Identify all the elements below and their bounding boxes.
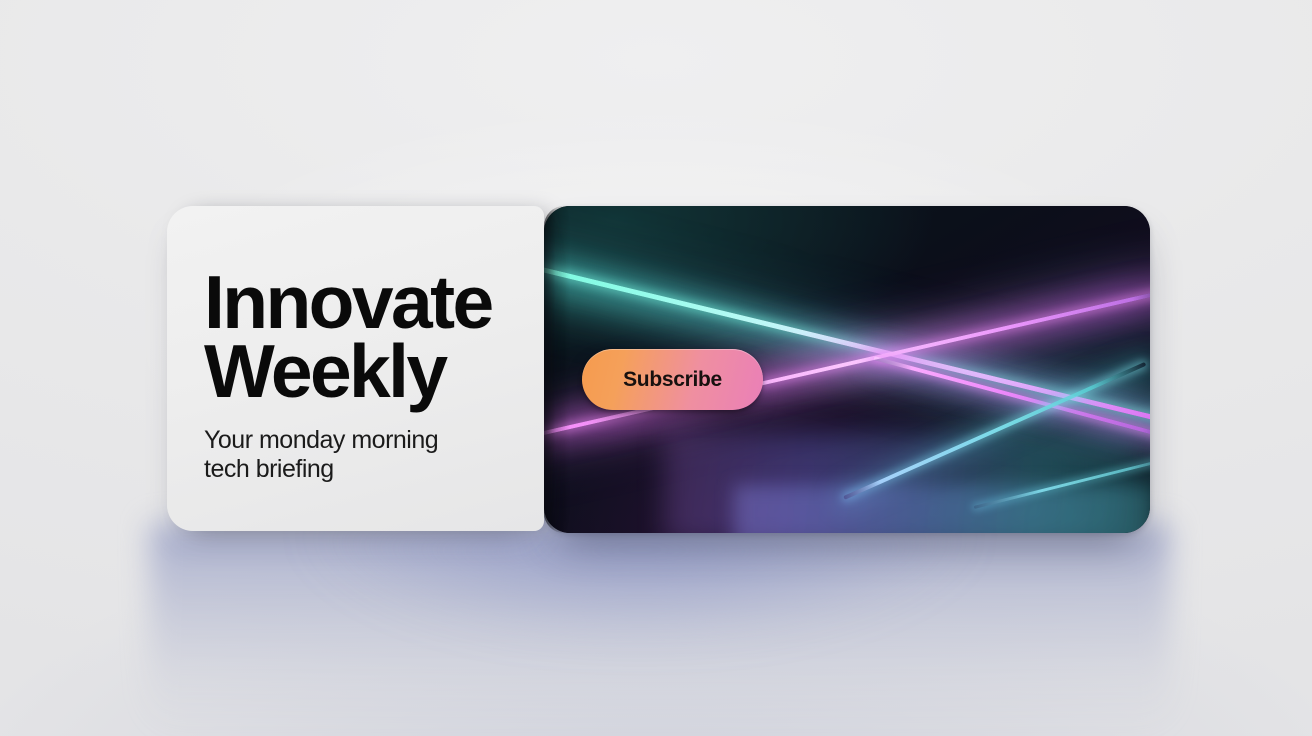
newsletter-banner-card[interactable]: innovate solutions Innovate Weekly Your … [167,206,1150,533]
floor-reflection-glow-inner [230,520,1050,690]
banner-copy-panel: Innovate Weekly Your monday morning tech… [167,206,544,531]
page-background: innovate solutions Innovate Weekly Your … [0,0,1312,736]
page-subtitle: Your monday morning tech briefing [204,426,524,485]
page-title: Innovate Weekly [204,268,524,406]
banner-copy: Innovate Weekly Your monday morning tech… [204,268,524,485]
floor-reflection-glow [150,524,1170,734]
subscribe-button[interactable]: Subscribe [582,349,763,410]
